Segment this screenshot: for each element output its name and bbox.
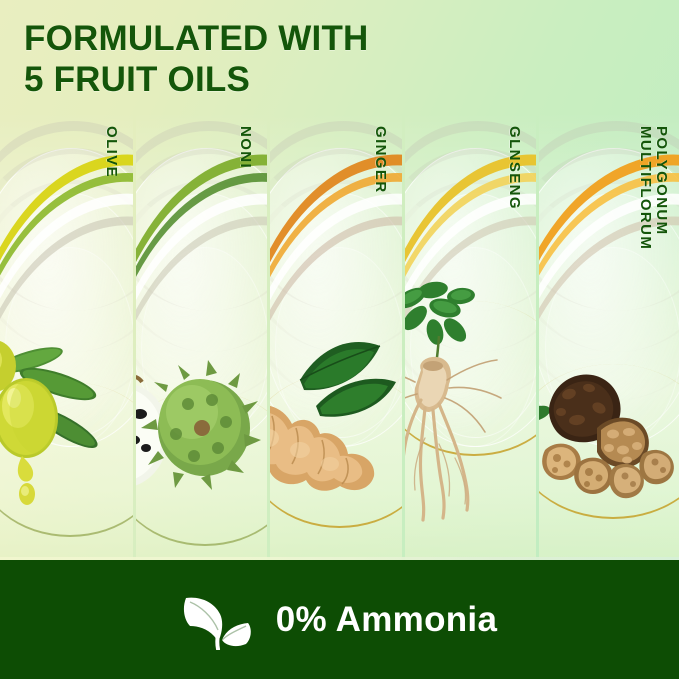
panel-label-polygonum: POLYGONUM MULTIFLORUM <box>637 126 669 250</box>
ingredient-panel-olive: OLIVE <box>0 112 133 562</box>
ginseng-artwork <box>405 288 536 538</box>
ginger-artwork <box>270 288 402 538</box>
ingredient-panel-ginger: GINGER <box>270 112 402 562</box>
panel-label-olive: OLIVE <box>103 126 119 178</box>
ingredient-panel-noni: NONI <box>136 112 267 562</box>
panel-label-noni: NONI <box>237 126 253 169</box>
ingredient-panel-polygonum: POLYGONUM MULTIFLORUM <box>539 112 679 562</box>
panel-label-ginseng: GLNSENG <box>506 126 522 210</box>
leaf-icon <box>182 590 256 650</box>
page-title: FORMULATED WITH 5 FRUIT OILS <box>24 18 624 100</box>
noni-artwork <box>136 288 267 538</box>
ingredient-panel-strip: OLIVE <box>0 112 679 562</box>
infographic-canvas: FORMULATED WITH 5 FRUIT OILS OLIVE <box>0 0 679 679</box>
banner-label: 0% Ammonia <box>276 600 497 640</box>
ammonia-free-banner: 0% Ammonia <box>0 560 679 679</box>
panel-label-ginger: GINGER <box>372 126 388 194</box>
ingredient-panel-ginseng: GLNSENG <box>405 112 536 562</box>
olive-artwork <box>0 288 133 538</box>
polygonum-artwork <box>539 288 679 538</box>
